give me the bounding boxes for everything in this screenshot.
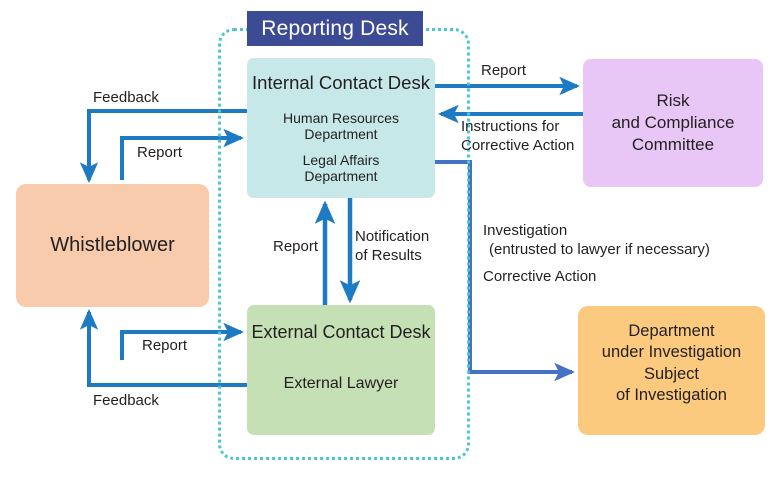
- edge-label-notification-of-results: Notification of Results: [355, 228, 429, 266]
- instructions-line1: Instructions for: [461, 118, 559, 135]
- flow-diagram-canvas: Reporting Desk Internal Contact Desk Hum…: [0, 0, 780, 478]
- external-contact-desk-line1: External Lawyer: [284, 375, 399, 394]
- internal-contact-desk-line1: Human Resources: [283, 110, 399, 127]
- edge-label-instructions-for-corrective-action: Instructions for Corrective Action: [461, 118, 574, 156]
- node-whistleblower[interactable]: Whistleblower: [16, 184, 209, 307]
- node-external-contact-desk[interactable]: External Contact Desk External Lawyer: [247, 305, 435, 435]
- edge-label-feedback-bottom: Feedback: [93, 392, 159, 411]
- edge-label-feedback-top: Feedback: [93, 89, 159, 108]
- external-contact-desk-title: External Contact Desk: [251, 322, 430, 343]
- edge-label-report-right: Report: [481, 62, 526, 81]
- risk-committee-line3: Committee: [632, 135, 714, 155]
- reporting-desk-title: Reporting Desk: [261, 17, 409, 41]
- department-investigated-line4: of Investigation: [616, 386, 727, 405]
- department-investigated-line3: Subject: [644, 365, 699, 384]
- edge-label-report-up: Report: [273, 238, 318, 257]
- internal-contact-desk-line4: Department: [304, 168, 377, 185]
- risk-committee-line1: Risk: [656, 91, 689, 111]
- department-investigated-line1: Department: [628, 322, 714, 341]
- risk-committee-line2: and Compliance: [612, 113, 735, 133]
- internal-contact-desk-line2: Department: [304, 126, 377, 143]
- notification-line1: Notification: [355, 228, 429, 245]
- investigation-line1: Investigation: [483, 222, 567, 239]
- node-risk-and-compliance-committee[interactable]: Risk and Compliance Committee: [583, 59, 763, 187]
- edge-label-investigation: Investigation (entrusted to lawyer if ne…: [483, 222, 710, 260]
- edge-label-report-top: Report: [137, 144, 182, 163]
- investigation-line2: (entrusted to lawyer if necessary): [483, 241, 710, 258]
- edge-label-report-bottom: Report: [142, 337, 187, 356]
- reporting-desk-title-banner: Reporting Desk: [247, 11, 423, 46]
- node-department-under-investigation[interactable]: Department under Investigation Subject o…: [578, 306, 765, 435]
- node-internal-contact-desk[interactable]: Internal Contact Desk Human Resources De…: [247, 58, 435, 198]
- whistleblower-title: Whistleblower: [50, 234, 174, 258]
- department-investigated-line2: under Investigation: [602, 343, 741, 362]
- internal-contact-desk-title: Internal Contact Desk: [252, 72, 430, 94]
- notification-line2: of Results: [355, 247, 422, 264]
- internal-contact-desk-line3: Legal Affairs: [303, 152, 380, 169]
- instructions-line2: Corrective Action: [461, 137, 574, 154]
- edge-label-corrective-action: Corrective Action: [483, 268, 596, 287]
